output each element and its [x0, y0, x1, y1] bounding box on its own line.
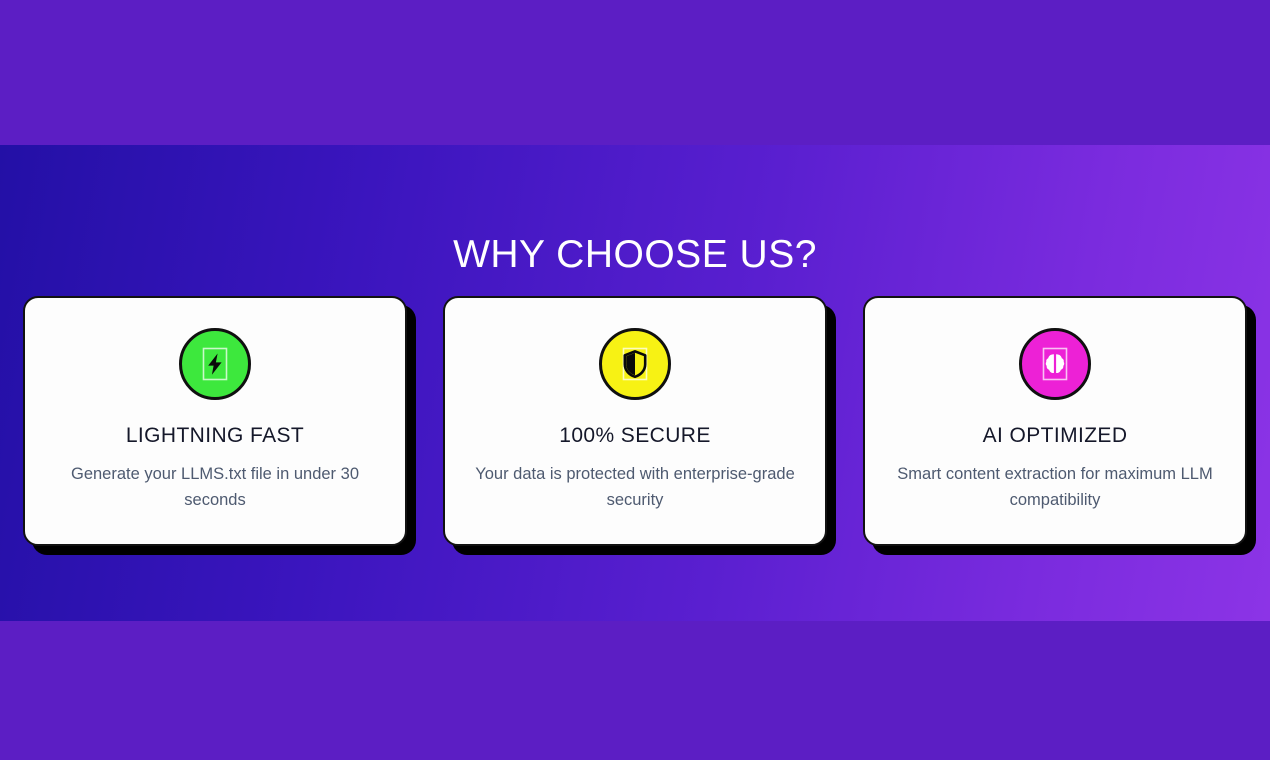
feature-card-title: 100% SECURE	[473, 423, 797, 449]
feature-card-description: Smart content extraction for maximum LLM…	[893, 461, 1217, 513]
shield-icon-badge	[599, 328, 671, 400]
lightning-bolt-icon-badge	[179, 328, 251, 400]
feature-card-title: LIGHTNING FAST	[53, 423, 377, 449]
feature-card-secure[interactable]: 100% SECURE Your data is protected with …	[443, 296, 827, 546]
feature-card-title: AI OPTIMIZED	[893, 423, 1217, 449]
feature-card-list: LIGHTNING FAST Generate your LLMS.txt fi…	[0, 296, 1270, 546]
feature-card-ai-optimized[interactable]: AI OPTIMIZED Smart content extraction fo…	[863, 296, 1247, 546]
shield-icon	[615, 344, 655, 384]
feature-card-lightning-fast[interactable]: LIGHTNING FAST Generate your LLMS.txt fi…	[23, 296, 407, 546]
brain-icon	[1035, 344, 1075, 384]
feature-card-description: Your data is protected with enterprise-g…	[473, 461, 797, 513]
page-root: WHY CHOOSE US? LIGHTNING FAST Generate y…	[0, 0, 1270, 760]
lightning-bolt-icon	[195, 344, 235, 384]
brain-icon-badge	[1019, 328, 1091, 400]
feature-card-description: Generate your LLMS.txt file in under 30 …	[53, 461, 377, 513]
page-title: WHY CHOOSE US?	[0, 228, 1270, 282]
